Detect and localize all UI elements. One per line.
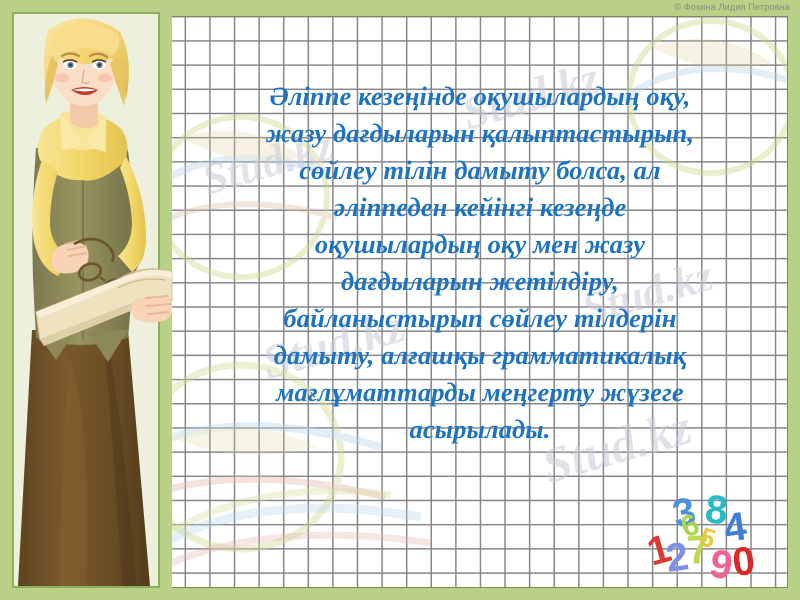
text-line: әліппеден кейінгі кезеңде: [200, 189, 760, 226]
svg-text:0: 0: [730, 539, 757, 584]
text-line: сөйлеу тілін дамыту болса, ал: [200, 152, 760, 189]
teacher-figure-icon: [0, 0, 172, 600]
text-line: байланыстырып сөйлеу тілдерін: [200, 300, 760, 337]
teacher-illustration-panel: [0, 0, 172, 600]
text-line: асырылады.: [200, 411, 760, 448]
text-line: мағлұматтарды меңгерту жүзеге: [200, 374, 760, 411]
text-line: дамыту, алғашқы грамматикалық: [200, 337, 760, 374]
text-line: жазу дағдыларын қалыптастырып,: [200, 115, 760, 152]
copyright-notice: © Фокина Лидия Петровна: [674, 2, 790, 12]
text-line: Әліппе кезеңінде оқушылардың оқу,: [200, 78, 760, 115]
foam-numbers-icon: 3 8 4 1 2 7 9 0 5 6: [642, 492, 782, 584]
text-line: оқушылардың оқу мен жазу: [200, 226, 760, 263]
text-line: дағдыларын жетілдіру,: [200, 263, 760, 300]
slide-body-text: Әліппе кезеңінде оқушылардың оқу, жазу д…: [200, 78, 760, 448]
slide-canvas: Stud.kz Stud.kz Stud.kz Stud.kz Stud.kz …: [0, 0, 800, 600]
